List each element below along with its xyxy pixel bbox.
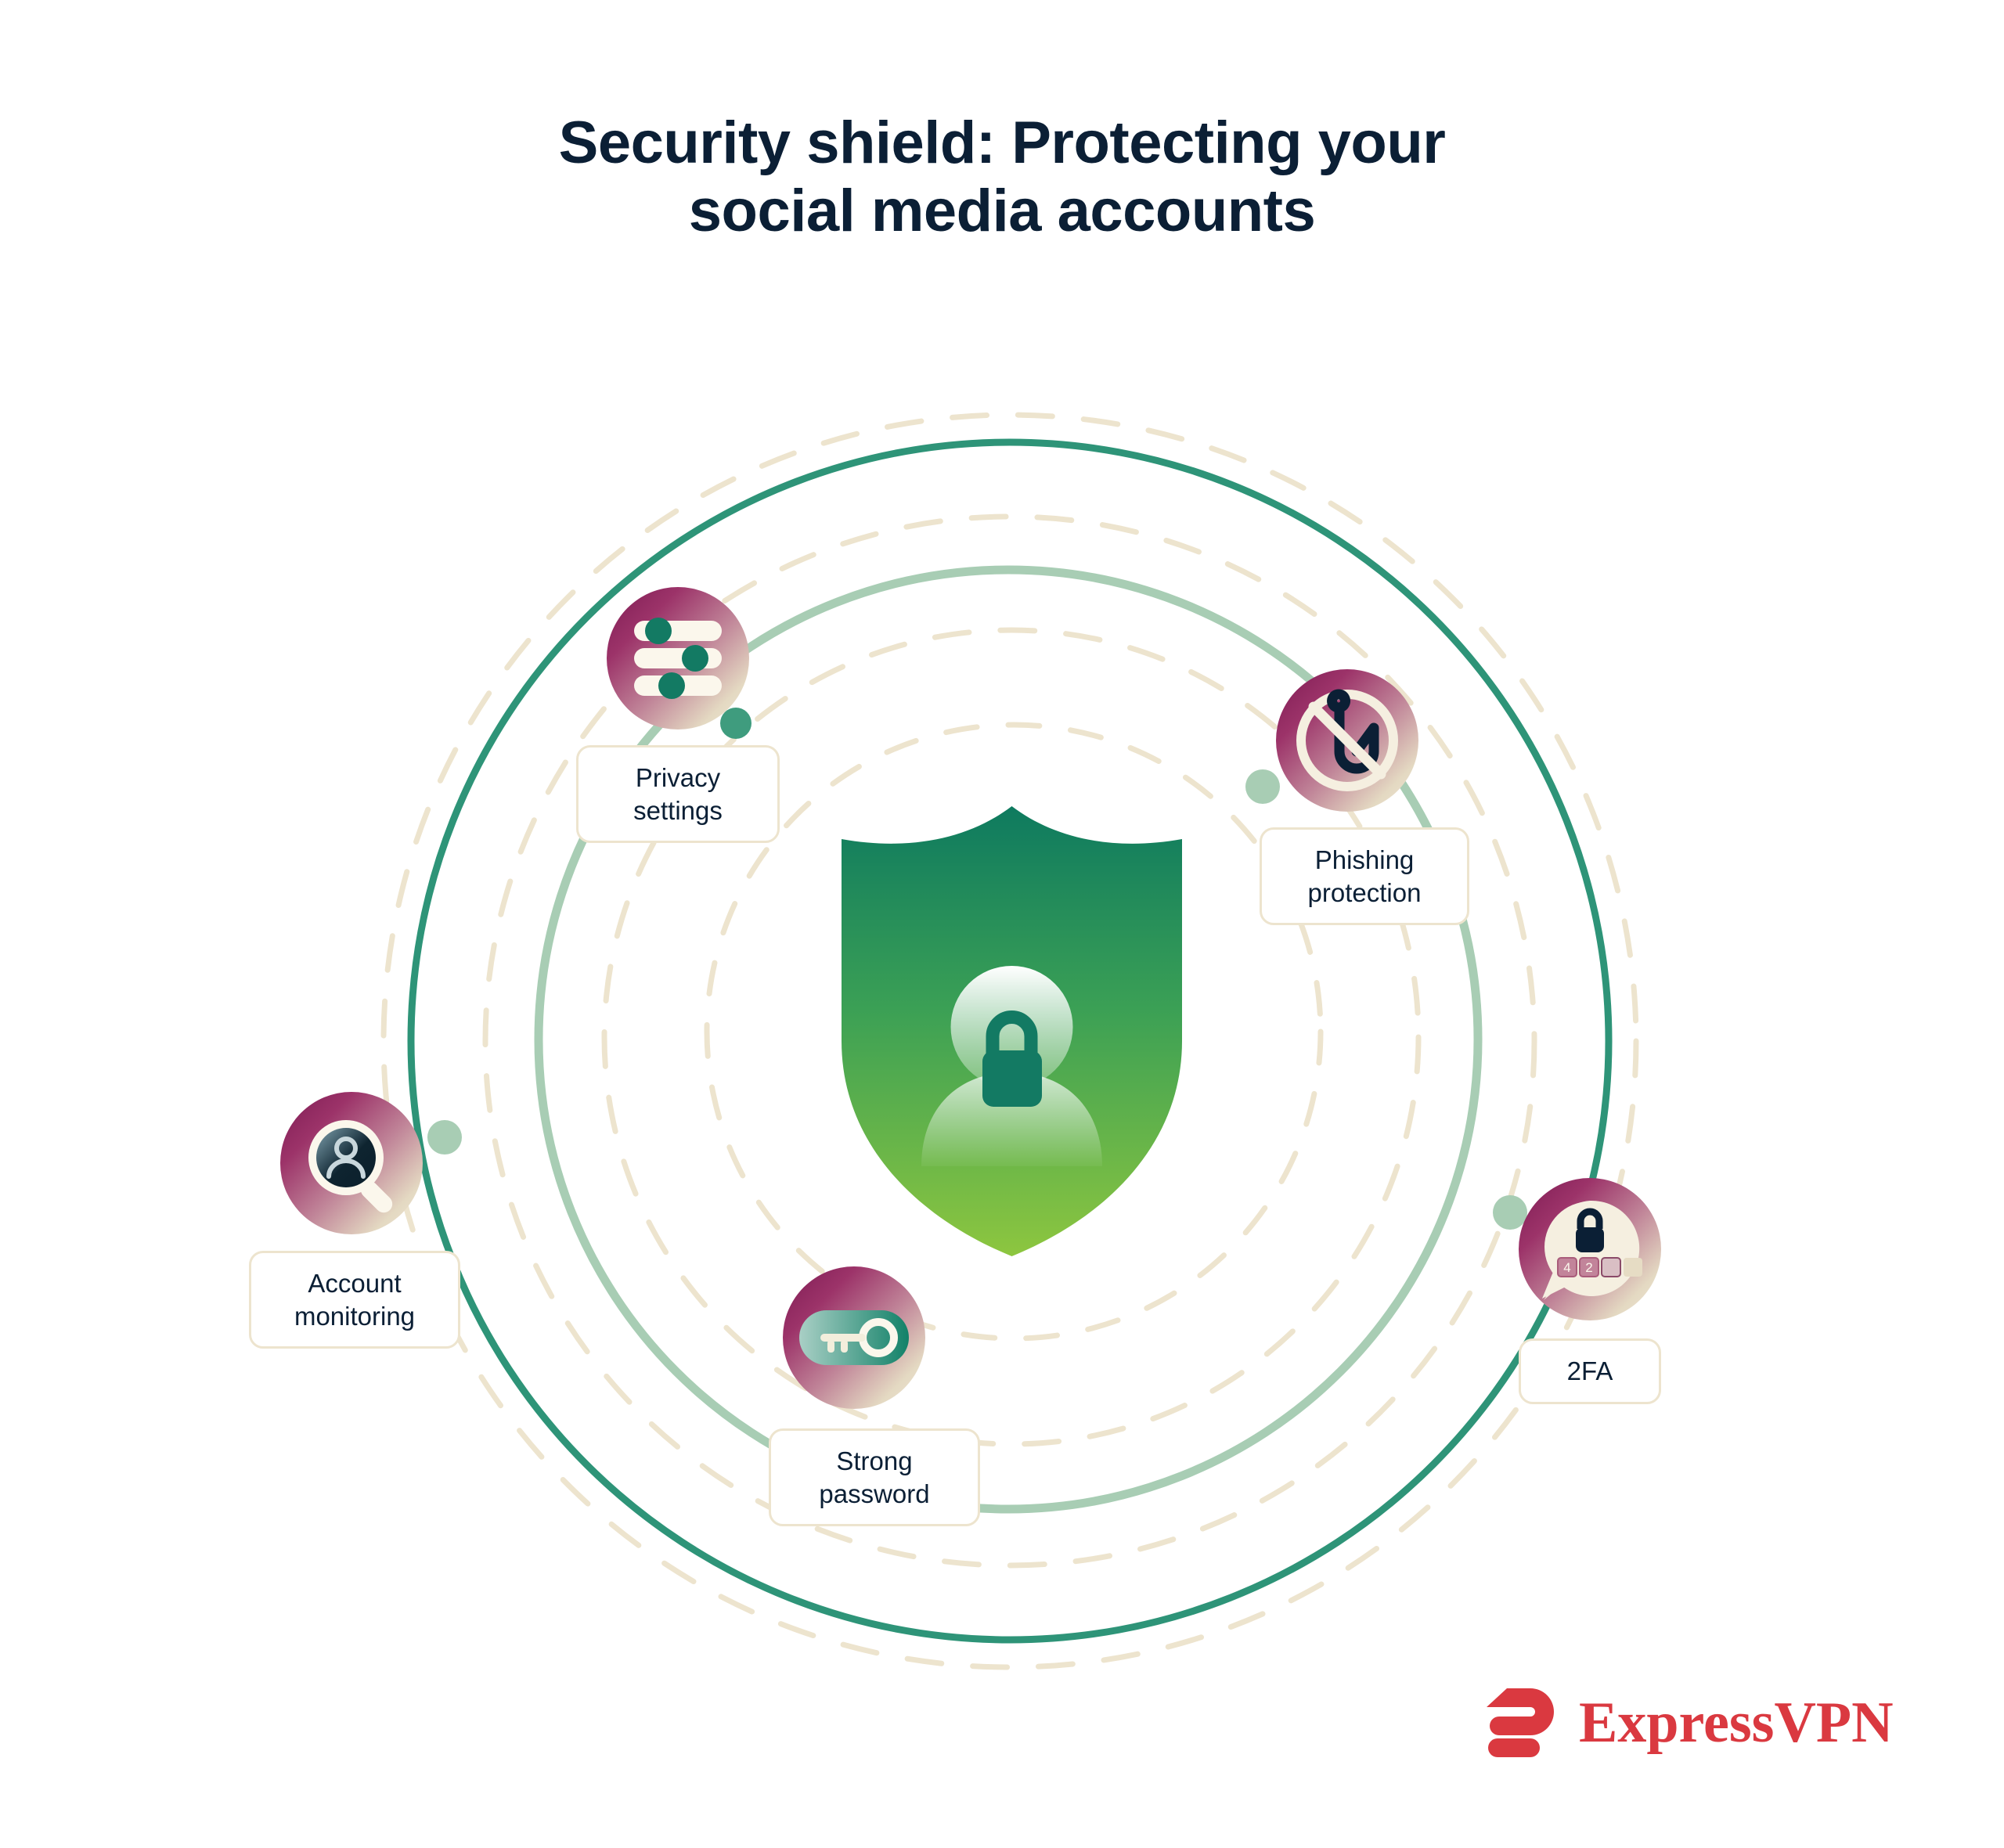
shield-person-lock-icon [834, 806, 1190, 1256]
node-strong-password[interactable] [783, 1266, 925, 1409]
node-two-factor-auth[interactable]: 4 2 [1519, 1178, 1661, 1320]
expressvpn-e-logo-icon [1483, 1687, 1562, 1759]
otp-speech-bubble-lock-icon: 4 2 [1531, 1191, 1649, 1308]
label-account-monitoring[interactable]: Account monitoring [249, 1251, 460, 1349]
no-fish-hook-icon [1292, 686, 1402, 795]
node-account-monitoring[interactable] [280, 1092, 423, 1234]
expressvpn-logo[interactable]: ExpressVPN [1483, 1687, 1894, 1759]
label-two-factor-auth[interactable]: 2FA [1519, 1338, 1661, 1404]
svg-text:4: 4 [1563, 1260, 1570, 1275]
node-privacy-settings[interactable] [607, 587, 749, 729]
label-privacy-settings[interactable]: Privacy settings [576, 745, 780, 843]
key-pill-icon [799, 1310, 909, 1365]
orbit-dot-privacy [720, 708, 751, 739]
central-shield [834, 806, 1190, 1256]
orbit-diagram: Privacy settings Phishing protection 4 2 [0, 0, 2004, 1848]
brand-wordmark: ExpressVPN [1579, 1694, 1894, 1752]
orbit-dot-phishing [1245, 769, 1280, 804]
label-phishing-protection[interactable]: Phishing protection [1260, 827, 1469, 925]
node-phishing-protection[interactable] [1276, 669, 1418, 812]
orbit-dot-account [427, 1120, 462, 1155]
magnifier-person-icon [301, 1112, 402, 1214]
sliders-icon [633, 618, 723, 699]
svg-text:2: 2 [1585, 1260, 1592, 1275]
label-strong-password[interactable]: Strong password [769, 1428, 980, 1526]
